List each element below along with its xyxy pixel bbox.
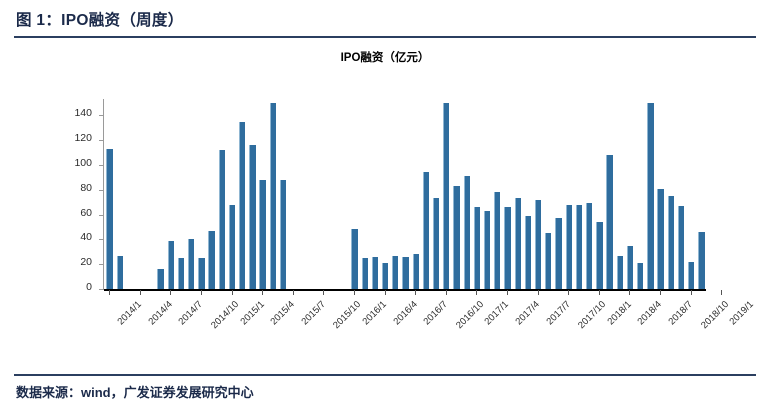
y-axis-tick-label: 140 xyxy=(74,107,92,119)
x-axis-tick-mark xyxy=(385,290,386,295)
bar xyxy=(106,149,112,289)
bar xyxy=(168,241,174,289)
bar xyxy=(464,176,470,289)
bar xyxy=(433,198,439,289)
x-axis-tick-label: 2014/10 xyxy=(209,299,241,331)
bar xyxy=(413,254,419,289)
y-axis-tick-label: 80 xyxy=(80,182,92,194)
bar xyxy=(280,180,286,289)
bar xyxy=(423,172,429,289)
page-title: 图 1：IPO融资（周度） xyxy=(0,8,184,30)
x-axis-tick-mark xyxy=(201,290,202,295)
x-axis-tick-mark xyxy=(538,290,539,295)
x-axis-tick-mark xyxy=(140,290,141,295)
x-axis-tick-label: 2016/10 xyxy=(454,299,486,331)
bar xyxy=(443,103,449,289)
bar xyxy=(515,198,521,289)
y-axis-tick-mark xyxy=(99,264,104,265)
x-axis-tick-label: 2017/4 xyxy=(514,299,542,327)
bar xyxy=(596,222,602,289)
x-axis-tick-label: 2016/7 xyxy=(422,299,450,327)
bar xyxy=(647,103,653,289)
x-axis-tick-label: 2018/7 xyxy=(667,299,695,327)
footer-divider xyxy=(14,374,756,376)
bar xyxy=(617,256,623,289)
bar xyxy=(239,122,245,289)
bar xyxy=(249,145,255,289)
bar xyxy=(178,258,184,289)
x-axis-tick-mark xyxy=(568,290,569,295)
bar xyxy=(453,186,459,289)
x-axis-tick-mark xyxy=(721,290,722,295)
bar xyxy=(219,150,225,289)
y-axis-tick-label: 0 xyxy=(86,281,92,293)
bar xyxy=(657,189,663,289)
x-axis-tick-mark xyxy=(507,290,508,295)
y-axis-line xyxy=(103,99,104,289)
bar xyxy=(698,232,704,289)
bar xyxy=(504,207,510,289)
y-axis-tick-mark xyxy=(99,165,104,166)
bar xyxy=(474,207,480,289)
y-axis-tick-mark xyxy=(99,190,104,191)
bar xyxy=(392,256,398,289)
y-axis-tick-mark xyxy=(99,239,104,240)
bar xyxy=(688,262,694,289)
x-axis-tick-mark xyxy=(354,290,355,295)
bar xyxy=(494,192,500,289)
x-axis-tick-mark xyxy=(476,290,477,295)
x-axis-tick-mark xyxy=(170,290,171,295)
x-axis-tick-mark xyxy=(232,290,233,295)
bar xyxy=(545,233,551,289)
bar xyxy=(606,155,612,289)
x-axis-tick-label: 2015/4 xyxy=(269,299,297,327)
bar xyxy=(198,258,204,289)
bar xyxy=(188,239,194,289)
bar xyxy=(259,180,265,289)
x-axis-tick-label: 2018/10 xyxy=(699,299,731,331)
y-axis-tick-label: 100 xyxy=(74,157,92,169)
figure-header: 图 1：IPO融资（周度） xyxy=(0,0,770,38)
bar xyxy=(678,206,684,289)
x-axis-tick-label: 2018/1 xyxy=(605,299,633,327)
bar xyxy=(627,246,633,289)
y-axis-tick-label: 20 xyxy=(80,256,92,268)
bar xyxy=(372,257,378,289)
bar xyxy=(351,229,357,289)
x-axis-tick-label: 2015/10 xyxy=(331,299,363,331)
x-axis-tick-label: 2017/7 xyxy=(544,299,572,327)
bar xyxy=(208,231,214,289)
bar xyxy=(229,205,235,289)
bar xyxy=(402,257,408,289)
x-axis-line xyxy=(104,289,706,291)
y-axis-tick-mark xyxy=(99,140,104,141)
x-axis-tick-mark xyxy=(415,290,416,295)
figure-source-note: 数据来源：wind，广发证券发展研究中心 xyxy=(16,382,254,401)
y-axis-tick-mark xyxy=(99,115,104,116)
x-axis-tick-label: 2015/7 xyxy=(299,299,327,327)
y-axis-tick-label: 60 xyxy=(80,207,92,219)
x-axis-tick-label: 2014/7 xyxy=(177,299,205,327)
x-axis-tick-mark xyxy=(262,290,263,295)
x-axis-tick-label: 2017/10 xyxy=(576,299,608,331)
x-axis-tick-label: 2016/4 xyxy=(391,299,419,327)
x-axis-tick-label: 2016/1 xyxy=(360,299,388,327)
chart-panel: IPO融资（亿元） 020406080100120140 2014/12014/… xyxy=(14,40,756,370)
bar xyxy=(484,211,490,289)
x-axis-tick-mark xyxy=(323,290,324,295)
bar xyxy=(117,256,123,289)
x-axis-tick-label: 2019/1 xyxy=(728,299,756,327)
bar xyxy=(525,216,531,289)
x-axis-tick-mark xyxy=(599,290,600,295)
y-axis-tick-label: 40 xyxy=(80,231,92,243)
y-axis-tick-mark xyxy=(99,215,104,216)
x-axis-tick-mark xyxy=(629,290,630,295)
x-axis-tick-label: 2014/4 xyxy=(146,299,174,327)
x-axis-tick-mark xyxy=(446,290,447,295)
y-axis-tick-mark xyxy=(99,289,104,290)
x-axis-tick-mark xyxy=(691,290,692,295)
bar xyxy=(668,196,674,289)
bar xyxy=(382,263,388,289)
bar xyxy=(270,103,276,289)
x-axis-tick-label: 2014/1 xyxy=(116,299,144,327)
x-axis-tick-label: 2015/1 xyxy=(238,299,266,327)
bar-chart-plot-area: 020406080100120140 2014/12014/42014/7201… xyxy=(104,103,706,289)
header-divider xyxy=(14,36,756,38)
x-axis-tick-mark xyxy=(109,290,110,295)
bar xyxy=(576,205,582,289)
x-axis-tick-label: 2018/4 xyxy=(636,299,664,327)
x-axis-tick-mark xyxy=(660,290,661,295)
bar xyxy=(362,258,368,289)
y-axis-tick-label: 120 xyxy=(74,132,92,144)
bar xyxy=(555,218,561,289)
bar xyxy=(637,263,643,289)
chart-title: IPO融资（亿元） xyxy=(14,49,756,65)
x-axis-tick-label: 2017/1 xyxy=(483,299,511,327)
bar xyxy=(157,269,163,289)
bar xyxy=(535,200,541,289)
bar xyxy=(586,203,592,289)
x-axis-tick-mark xyxy=(293,290,294,295)
bar xyxy=(566,205,572,289)
